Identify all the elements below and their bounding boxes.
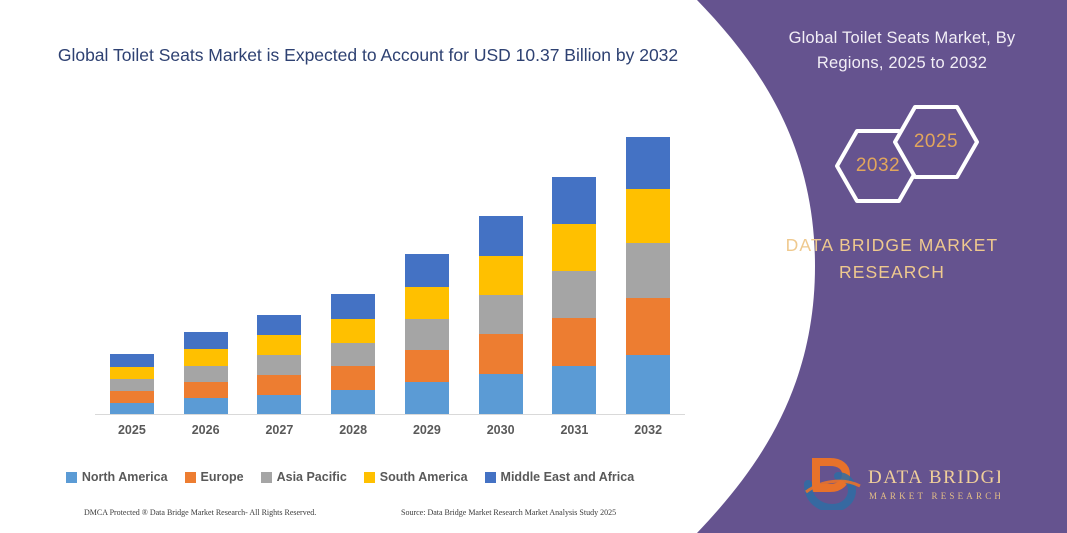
chart-panel: Global Toilet Seats Market is Expected t… (0, 0, 700, 533)
x-axis-label: 2027 (249, 423, 309, 437)
bar-segment (110, 391, 154, 403)
legend-item[interactable]: South America (364, 470, 468, 484)
bar-segment (257, 335, 301, 355)
legend-item[interactable]: North America (66, 470, 168, 484)
x-axis-label: 2032 (618, 423, 678, 437)
bar-segment (479, 334, 523, 374)
bar-column (184, 332, 228, 415)
legend-swatch-icon (66, 472, 77, 483)
bar-segment (331, 294, 375, 319)
bar-segment (405, 319, 449, 351)
bar-segment (184, 398, 228, 415)
data-bridge-logo: DATA BRIDGE MARKET RESEARCH (800, 458, 1000, 510)
bar-segment (479, 216, 523, 256)
bar-segment (257, 315, 301, 335)
bar-segment (110, 379, 154, 391)
bar-segment (405, 382, 449, 415)
bar-segment (552, 366, 596, 415)
x-axis-label: 2029 (397, 423, 457, 437)
x-axis-labels: 20252026202720282029203020312032 (95, 423, 685, 443)
bar-segment (626, 137, 670, 189)
bar-segment (405, 350, 449, 382)
bar-segment (405, 254, 449, 287)
bar-column (626, 137, 670, 415)
purple-panel-content: Global Toilet Seats Market, By Regions, … (697, 0, 1067, 533)
legend-swatch-icon (261, 472, 272, 483)
legend-swatch-icon (185, 472, 196, 483)
bar-chart-plot-area (95, 120, 685, 415)
bar-segment (479, 295, 523, 334)
x-axis-label: 2031 (544, 423, 604, 437)
bar-segment (257, 355, 301, 375)
bar-segment (184, 366, 228, 382)
legend-item[interactable]: Middle East and Africa (485, 470, 635, 484)
bar-segment (331, 343, 375, 367)
legend-label: Middle East and Africa (501, 470, 635, 484)
hexagon-right-label: 2025 (893, 104, 979, 180)
bar-segment (552, 318, 596, 366)
bar-segment (331, 390, 375, 415)
bar-column (331, 294, 375, 415)
bar-segment (552, 224, 596, 271)
legend-swatch-icon (364, 472, 375, 483)
legend-item[interactable]: Europe (185, 470, 244, 484)
chart-footer: DMCA Protected ® Data Bridge Market Rese… (0, 508, 700, 524)
chart-title: Global Toilet Seats Market is Expected t… (56, 42, 680, 69)
logo-secondary-text: MARKET RESEARCH (869, 491, 1000, 501)
legend-label: South America (380, 470, 468, 484)
bar-segment (552, 271, 596, 318)
bar-column (110, 354, 154, 415)
logo-primary-text: DATA BRIDGE (868, 467, 1000, 488)
bar-segment (626, 298, 670, 355)
panel-title: Global Toilet Seats Market, By Regions, … (757, 26, 1047, 76)
legend-label: Europe (201, 470, 244, 484)
chart-baseline (95, 414, 685, 415)
bar-segment (110, 367, 154, 379)
bar-segment (405, 287, 449, 319)
bar-segment (331, 366, 375, 390)
footer-source: Source: Data Bridge Market Research Mark… (401, 508, 616, 517)
x-axis-label: 2025 (102, 423, 162, 437)
bar-column (552, 177, 596, 415)
bar-segment (479, 256, 523, 296)
legend-swatch-icon (485, 472, 496, 483)
hexagon-badges: 2032 2025 (697, 104, 1067, 204)
bar-segment (184, 349, 228, 366)
x-axis-label: 2030 (471, 423, 531, 437)
bar-segment (110, 354, 154, 367)
x-axis-label: 2028 (323, 423, 383, 437)
hexagon-badge-right: 2025 (893, 104, 979, 180)
bar-column (479, 216, 523, 415)
bar-segment (479, 374, 523, 415)
bar-segment (184, 382, 228, 399)
bar-segment (331, 319, 375, 343)
legend-label: Asia Pacific (277, 470, 347, 484)
bar-segment (552, 177, 596, 224)
legend-label: North America (82, 470, 168, 484)
chart-legend: North AmericaEuropeAsia PacificSouth Ame… (0, 470, 700, 484)
brand-name: DATA BRIDGE MARKET RESEARCH (742, 232, 1042, 286)
bar-segment (257, 375, 301, 395)
bar-segment (626, 189, 670, 243)
bar-column (257, 315, 301, 415)
bar-segment (257, 395, 301, 416)
bar-segment (626, 355, 670, 415)
footer-copyright: DMCA Protected ® Data Bridge Market Rese… (84, 508, 316, 517)
bar-segment (184, 332, 228, 349)
bar-segment (626, 243, 670, 298)
legend-item[interactable]: Asia Pacific (261, 470, 347, 484)
bar-column (405, 254, 449, 415)
x-axis-label: 2026 (176, 423, 236, 437)
